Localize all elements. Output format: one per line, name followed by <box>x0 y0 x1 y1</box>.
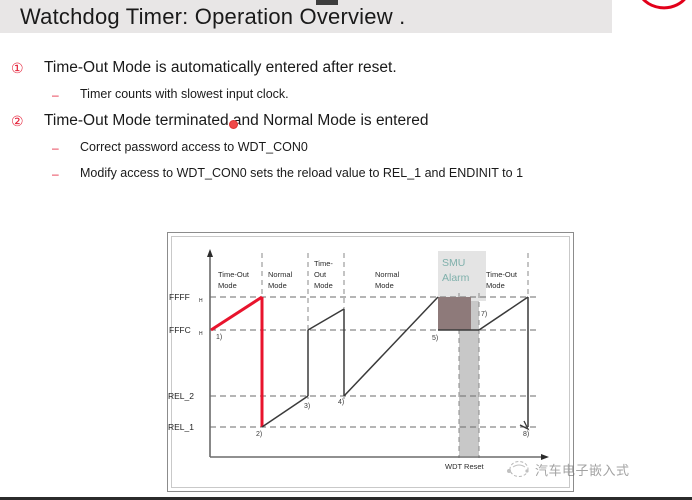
y-tick-label-0: FFFF <box>169 292 190 302</box>
bullet-item-2: – Timer counts with slowest input clock. <box>0 87 692 113</box>
bullet-item-1: ① Time-Out Mode is automatically entered… <box>0 60 692 87</box>
mode-label-4-line1: Time-Out <box>486 270 518 279</box>
bullet-text-4: Correct password access to WDT_CON0 <box>80 140 308 154</box>
bullet-marker-2: – <box>52 88 59 102</box>
mode-label-3-line1: Normal <box>375 270 400 279</box>
mode-label-0-line1: Time-Out <box>218 270 250 279</box>
annotation-8: 8) <box>523 431 529 438</box>
timing-chart: FFFF H FFFC H REL_2 REL_1 Time-Out Mode … <box>168 233 573 491</box>
bullet-marker-3: ② <box>11 113 24 130</box>
y-tick-label-3: REL_1 <box>168 422 194 432</box>
mode-label-2-line3: Mode <box>314 281 333 290</box>
wdt-reset-label: WDT Reset <box>445 462 485 471</box>
trace-arrowheads <box>520 421 528 429</box>
grid-lines <box>210 297 540 427</box>
highlight-trace <box>211 297 262 427</box>
annotation-1: 1) <box>216 334 222 341</box>
bullet-marker-4: – <box>52 141 59 155</box>
mode-label-0-line2: Mode <box>218 281 237 290</box>
y-axis-labels: FFFF H FFFC H REL_2 REL_1 <box>168 292 203 432</box>
bullet-marker-5: – <box>52 167 59 181</box>
mode-label-4-line2: Mode <box>486 281 505 290</box>
mode-label-2-line1: Time- <box>314 259 333 268</box>
y-tick-sub-0: H <box>199 298 203 304</box>
y-tick-label-1: FFFC <box>169 325 191 335</box>
bullet-text-1: Time-Out Mode is automatically entered a… <box>44 59 397 77</box>
infineon-logo <box>632 0 692 28</box>
smu-alarm-line2: Alarm <box>442 272 470 284</box>
smu-alarm-line1: SMU <box>442 257 465 269</box>
bullet-item-3: ② Time-Out Mode terminated and Normal Mo… <box>0 113 692 140</box>
timing-diagram: FFFF H FFFC H REL_2 REL_1 Time-Out Mode … <box>167 232 574 492</box>
bullet-item-4: – Correct password access to WDT_CON0 <box>0 140 692 166</box>
annotation-3: 3) <box>304 403 310 410</box>
bullet-text-5: Modify access to WDT_CON0 sets the reloa… <box>80 166 523 180</box>
annotation-7: 7) <box>481 311 487 318</box>
y-tick-label-2: REL_2 <box>168 391 194 401</box>
y-tick-sub-1: H <box>199 331 203 337</box>
mode-label-2-line2: Out <box>314 270 327 279</box>
annotation-2: 2) <box>256 431 262 438</box>
annotation-5: 5) <box>432 335 438 342</box>
mode-label-1-line1: Normal <box>268 270 293 279</box>
mode-label-3-line2: Mode <box>375 281 394 290</box>
mode-label-1-line2: Mode <box>268 281 287 290</box>
smu-alarm-fill <box>438 297 471 330</box>
annotation-4: 4) <box>338 399 344 406</box>
bullet-marker-1: ① <box>11 60 24 77</box>
bullet-text-2: Timer counts with slowest input clock. <box>80 87 289 101</box>
counter-trace <box>262 297 528 427</box>
annotation-dot <box>229 120 238 129</box>
bullet-list: ① Time-Out Mode is automatically entered… <box>0 60 692 192</box>
bullet-item-5: – Modify access to WDT_CON0 sets the rel… <box>0 166 692 192</box>
watermark: 汽车电子嵌入式 <box>505 459 630 479</box>
page-title: Watchdog Timer: Operation Overview . <box>20 4 405 30</box>
watermark-text: 汽车电子嵌入式 <box>535 460 630 479</box>
watermark-logo <box>505 459 531 479</box>
